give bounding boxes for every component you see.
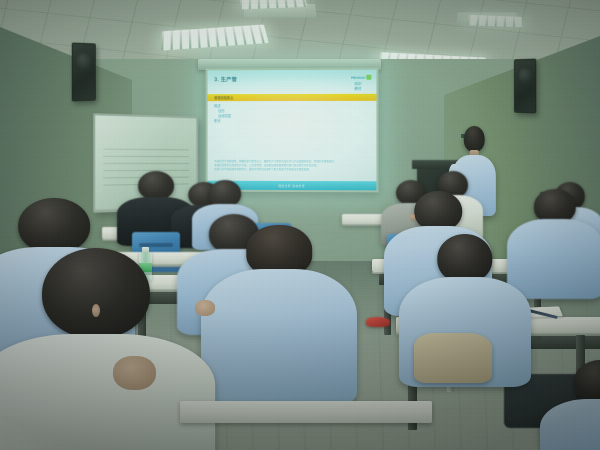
slide-bullet-1: 概述 <box>214 103 370 108</box>
attendee-right-front-head <box>437 234 492 283</box>
attendee-right-mid-ear <box>410 213 415 221</box>
attendee-foreground-main-hand <box>113 356 156 391</box>
attendee-right-corner-torso <box>540 399 600 450</box>
presenter-eyeglasses <box>461 134 467 138</box>
slide-yellow-bar: 管理流程要点 <box>208 93 377 100</box>
attendee-foreground-main <box>0 248 204 450</box>
slide-body: 概述 目的 适用范围 职责 为规范生产管理流程，明确各部门职责分工，确保生产计划… <box>208 100 377 181</box>
attendee-right-corner <box>540 360 600 450</box>
attendee-center-woman-torso <box>201 269 357 406</box>
logo-leaf-icon <box>367 74 372 79</box>
slide-logo: Honour <box>351 74 371 79</box>
wall-speaker-left <box>72 42 96 101</box>
attendee-right-mid-head <box>414 191 462 231</box>
slide-paragraph: 为规范生产管理流程，明确各部门职责分工，确保生产计划的有效执行与产品质量的稳定，… <box>214 160 370 172</box>
slide-subtitle: 培训 教材 <box>355 82 362 91</box>
slide-bullet-3: 适用范围 <box>214 113 370 118</box>
slide-paragraph-line-3: 各部门应严格按照本流程执行，遇有异常情况应及时上报主管部门并按照应急预案处理。 <box>214 167 370 171</box>
attendee-center-woman <box>201 225 357 396</box>
attendee-back-1-head <box>138 171 174 200</box>
presentation-slide: 3. 生产管 Honour 培训 教材 管理流程要点 概述 目的 适用范围 职责 <box>208 69 377 189</box>
slide-title: 3. 生产管 <box>214 75 237 82</box>
classroom-photo: 3. 生产管 Honour 培训 教材 管理流程要点 概述 目的 适用范围 职责 <box>0 0 600 450</box>
logo-text: Honour <box>351 74 365 79</box>
slide-bullet-4: 职责 <box>214 118 370 123</box>
attendee-foreground-main-ear <box>92 304 100 317</box>
ceiling-light-fixture-4 <box>467 14 522 26</box>
attendee-foreground-left-head <box>18 198 90 253</box>
attendee-back-3-head <box>209 180 241 207</box>
slide-subtitle-line-1: 培训 <box>355 82 362 86</box>
slide-header: 3. 生产管 Honour 培训 教材 <box>208 69 377 93</box>
attendee-foreground-main-torso <box>0 334 215 450</box>
attendee-right-front-legs <box>414 333 492 383</box>
slide-subtitle-line-2: 教材 <box>355 86 362 90</box>
slide-footer-text: 保密文件 请勿外传 <box>278 183 305 187</box>
red-shoe <box>366 317 390 327</box>
wall-speaker-right <box>514 58 536 113</box>
desk-foreground <box>180 401 432 424</box>
attendee-foreground-main-head <box>42 248 150 339</box>
slide-bullet-2: 目的 <box>214 108 370 113</box>
slide-yellow-bar-label: 管理流程要点 <box>214 94 233 99</box>
projection-screen: 3. 生产管 Honour 培训 教材 管理流程要点 概述 目的 适用范围 职责 <box>206 67 379 191</box>
presenter-head <box>464 126 485 152</box>
